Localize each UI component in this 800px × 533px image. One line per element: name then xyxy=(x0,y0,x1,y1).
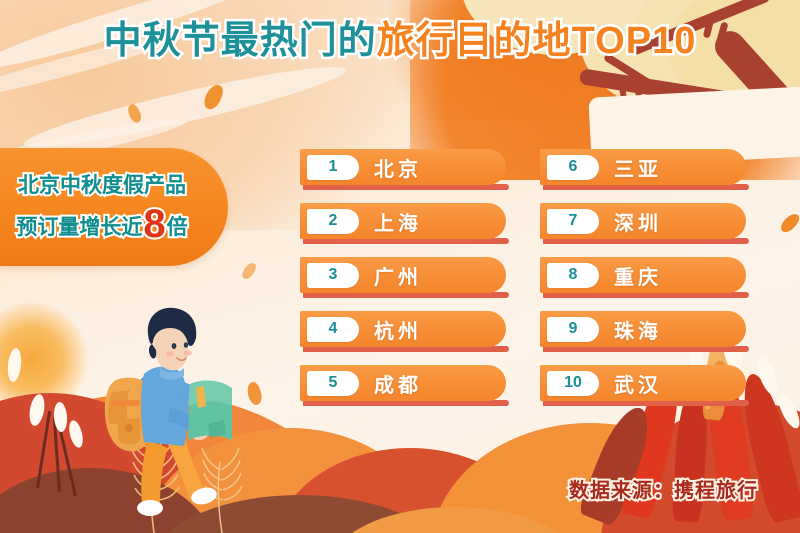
list-item[interactable]: 7 深圳 xyxy=(540,203,746,239)
title-orange-text: 旅行目的地TOP10 xyxy=(377,20,697,62)
falling-leaf xyxy=(245,381,264,407)
rank-city-label: 广州 xyxy=(374,261,422,290)
rank-badge: 6 xyxy=(547,155,599,180)
traveler-illustration xyxy=(82,288,232,518)
stat-suffix: 倍 xyxy=(167,217,188,239)
falling-leaf xyxy=(240,261,258,282)
rank-card[interactable]: 2 上海 xyxy=(300,203,506,239)
page-title: 中秋节最热门的旅行目的地TOP10 xyxy=(104,22,697,60)
rank-card[interactable]: 1 北京 xyxy=(300,149,506,185)
rank-badge: 7 xyxy=(547,209,599,234)
falling-leaf xyxy=(778,211,800,236)
stat-number: 8 xyxy=(143,206,165,242)
list-item[interactable]: 4 杭州 xyxy=(300,311,506,347)
infographic-poster: 中秋节最热门的旅行目的地TOP10 北京中秋度假产品 预订量增长近8倍 xyxy=(0,0,800,533)
hill-red-right xyxy=(600,403,800,533)
pampas-plume xyxy=(754,355,782,398)
stat-highlight-badge: 北京中秋度假产品 预订量增长近8倍 xyxy=(0,148,228,266)
list-item[interactable]: 8 重庆 xyxy=(540,257,746,293)
rank-badge: 3 xyxy=(307,263,359,288)
data-source-label: 数据来源：携程旅行 xyxy=(569,474,758,503)
rank-city-label: 珠海 xyxy=(614,315,662,344)
list-item[interactable]: 1 北京 xyxy=(300,149,506,185)
rank-badge: 4 xyxy=(307,317,359,342)
pampas-plume xyxy=(6,347,22,382)
list-item[interactable]: 5 成都 xyxy=(300,365,506,401)
rank-city-label: 上海 xyxy=(374,207,422,236)
rank-badge: 10 xyxy=(547,371,599,396)
rank-city-label: 杭州 xyxy=(374,315,422,344)
rank-card[interactable]: 8 重庆 xyxy=(540,257,746,293)
title-teal-text: 中秋节最热门的 xyxy=(104,20,377,62)
rank-card[interactable]: 4 杭州 xyxy=(300,311,506,347)
list-item[interactable]: 9 珠海 xyxy=(540,311,746,347)
rank-badge: 1 xyxy=(307,155,359,180)
rank-badge: 2 xyxy=(307,209,359,234)
rank-city-label: 成都 xyxy=(374,369,422,398)
list-item[interactable]: 2 上海 xyxy=(300,203,506,239)
rank-card[interactable]: 3 广州 xyxy=(300,257,506,293)
list-item[interactable]: 3 广州 xyxy=(300,257,506,293)
rank-badge: 9 xyxy=(547,317,599,342)
title-container: 中秋节最热门的旅行目的地TOP10 xyxy=(0,22,800,60)
list-item[interactable]: 10 武汉 xyxy=(540,365,746,401)
stat-line-2: 预订量增长近8倍 xyxy=(16,203,187,239)
rank-city-label: 北京 xyxy=(374,153,422,182)
rank-card[interactable]: 10 武汉 xyxy=(540,365,746,401)
stat-line-1: 北京中秋度假产品 xyxy=(18,175,186,197)
rank-card[interactable]: 7 深圳 xyxy=(540,203,746,239)
rank-card[interactable]: 6 三亚 xyxy=(540,149,746,185)
rank-card[interactable]: 9 珠海 xyxy=(540,311,746,347)
rank-card[interactable]: 5 成都 xyxy=(300,365,506,401)
rank-city-label: 重庆 xyxy=(614,261,662,290)
list-item[interactable]: 6 三亚 xyxy=(540,149,746,185)
rank-city-label: 深圳 xyxy=(614,207,662,236)
rank-city-label: 武汉 xyxy=(614,369,662,398)
ranking-list: 1 北京 6 三亚 2 上海 7 深圳 3 广州 xyxy=(300,140,750,412)
rank-badge: 5 xyxy=(307,371,359,396)
rank-badge: 8 xyxy=(547,263,599,288)
rank-city-label: 三亚 xyxy=(614,153,662,182)
stat-prefix: 预订量增长近 xyxy=(16,217,142,239)
